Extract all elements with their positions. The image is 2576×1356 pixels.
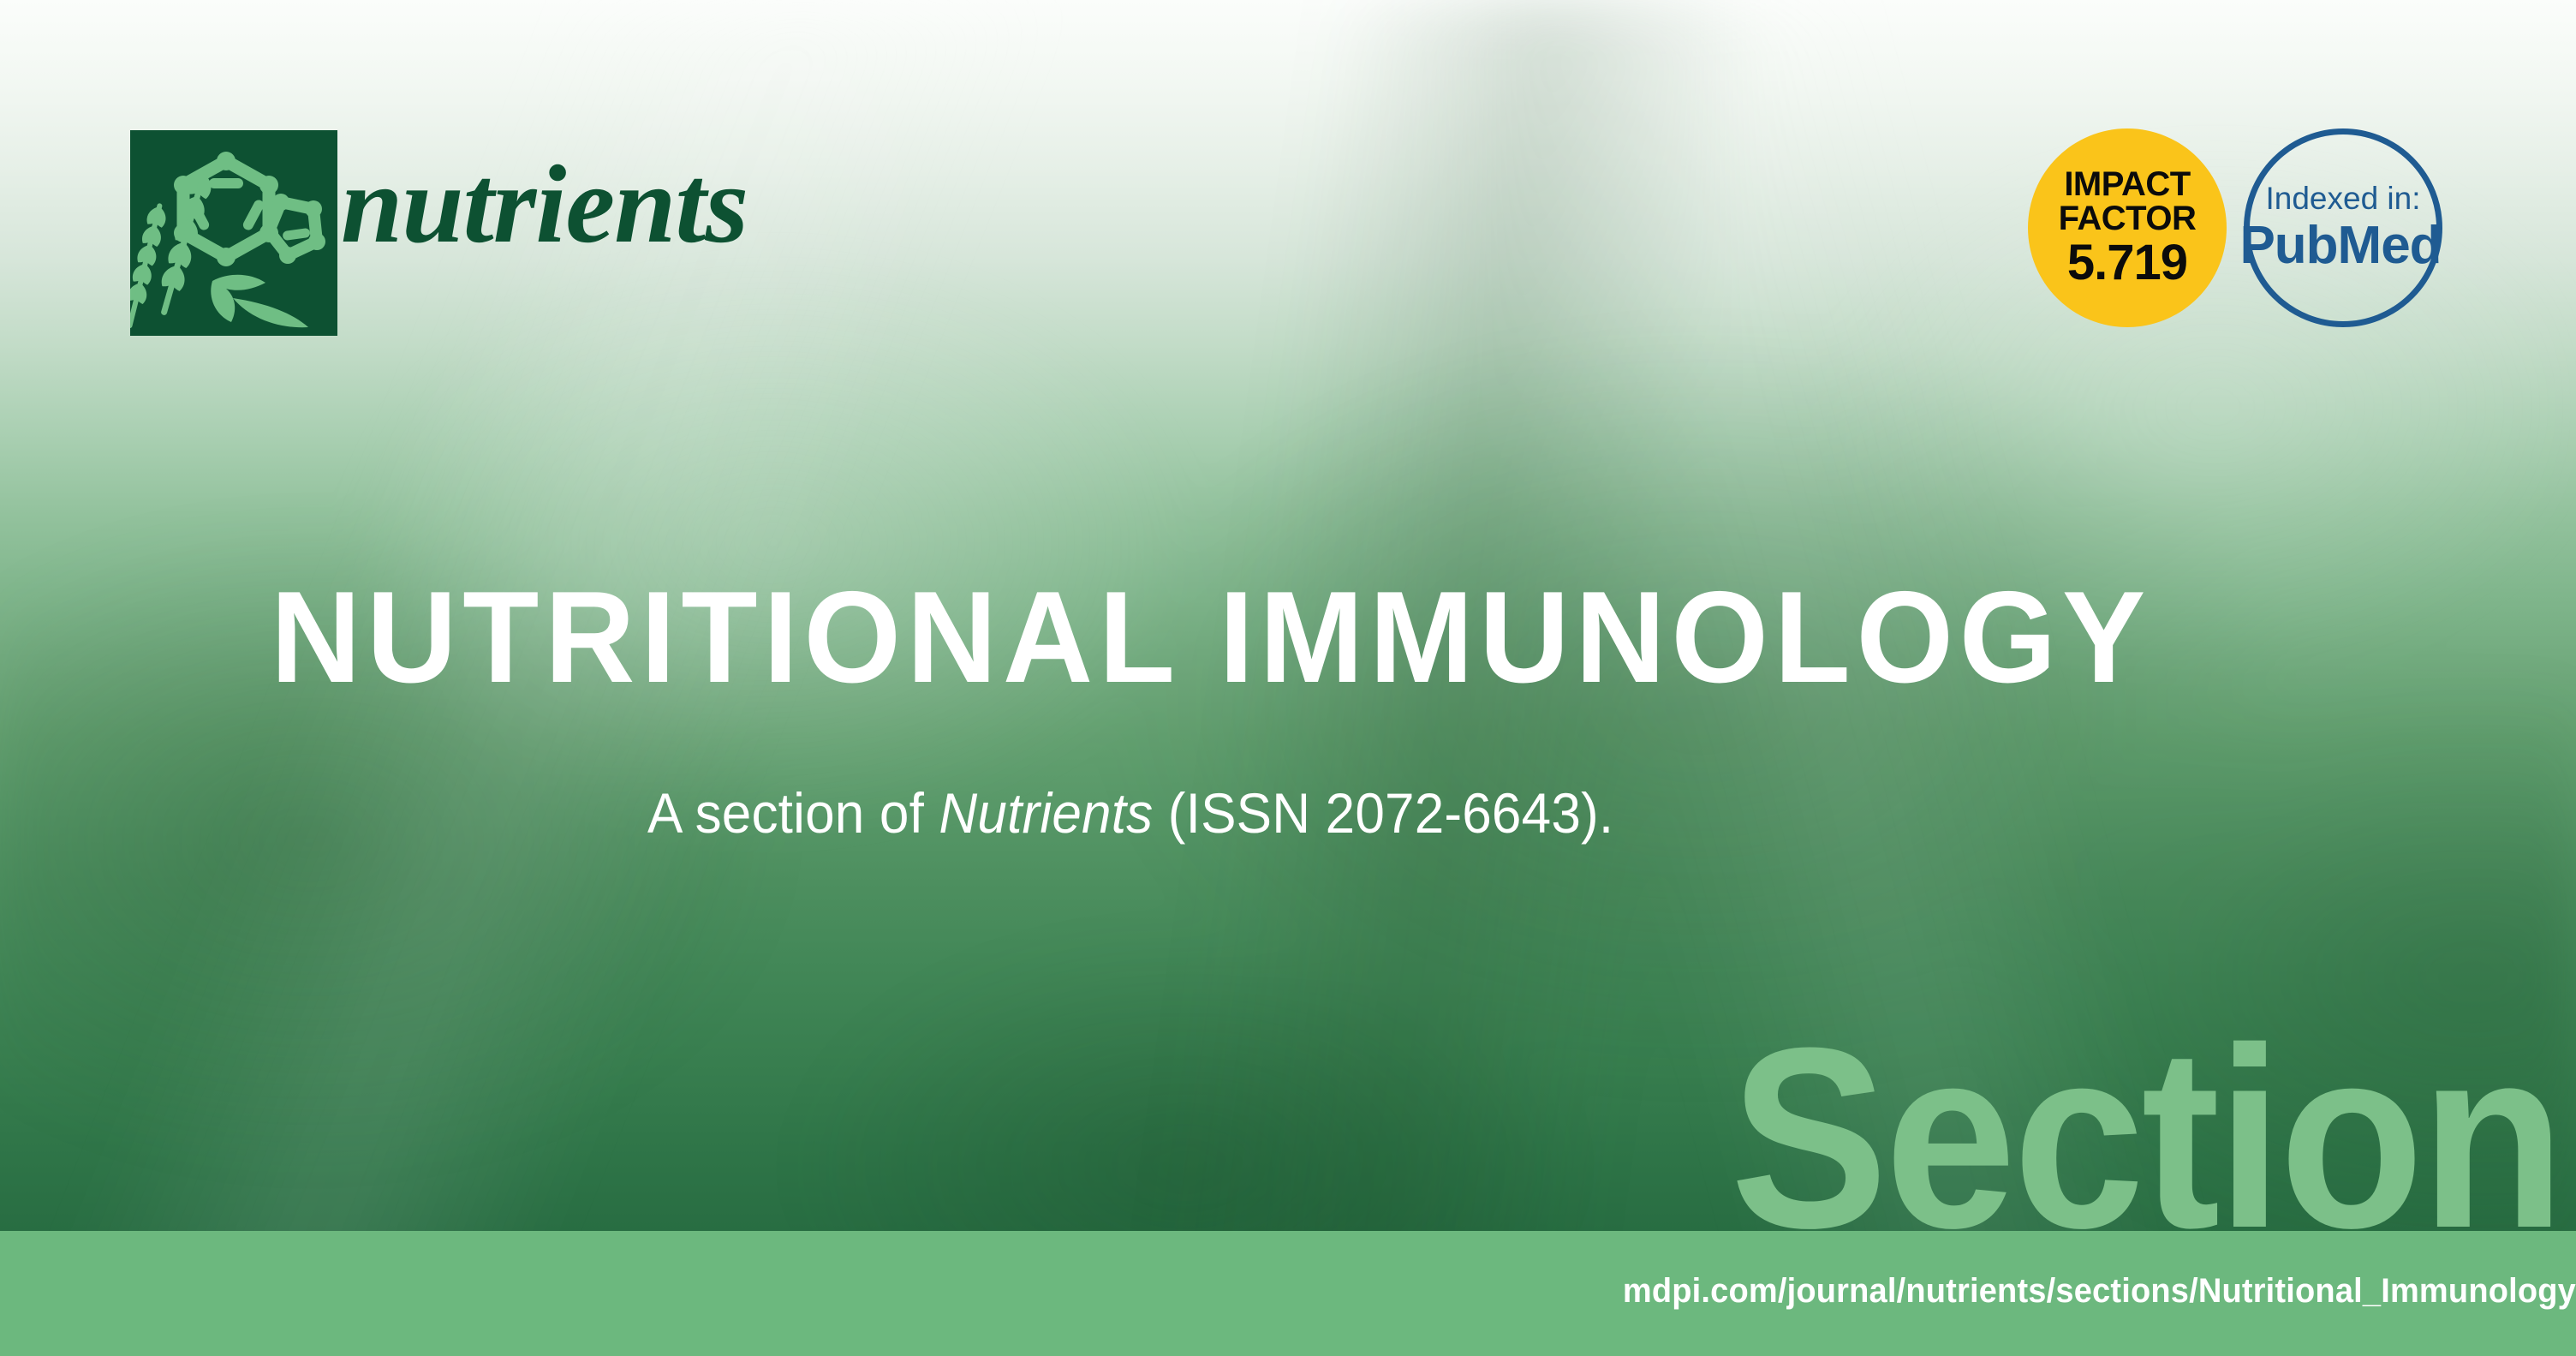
subtitle-prefix: A section of [647, 781, 939, 845]
page-title: NUTRITIONAL IMMUNOLOGY [271, 572, 2151, 702]
page-subtitle: A section of Nutrients (ISSN 2072-6643). [647, 785, 1613, 841]
subtitle-journal-name: Nutrients [939, 781, 1153, 845]
journal-section-banner: nutrients IMPACT FACTOR 5.719 Indexed in… [0, 0, 2576, 1356]
section-watermark: Section [1731, 1009, 2562, 1231]
footer-url[interactable]: mdpi.com/journal/nutrients/sections/Nutr… [181, 1272, 2576, 1311]
subtitle-suffix: (ISSN 2072-6643). [1153, 781, 1613, 845]
